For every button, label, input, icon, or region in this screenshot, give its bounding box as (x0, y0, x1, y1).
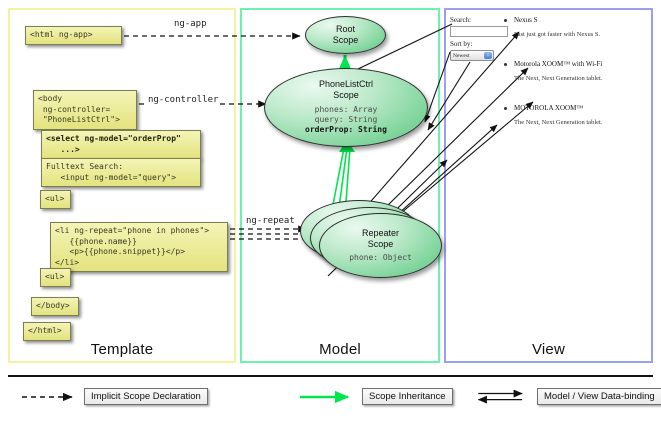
phone-snippet: The Next, Next Generation tablet. (514, 75, 654, 82)
bullet-icon (504, 107, 507, 110)
phone-list-ctrl-scope-props: phones: Array query: String orderProp: S… (305, 105, 387, 136)
green-arrow-icon (298, 390, 356, 404)
legend-implicit-scope-declaration: Implicit Scope Declaration (20, 388, 208, 405)
repeater-scope-title: Repeater Scope (362, 228, 399, 251)
double-arrow-icon (473, 390, 531, 404)
panel-model-label: Model (242, 341, 438, 358)
edge-label-ng-repeat: ng-repeat (244, 216, 297, 226)
code-box-ul-close[interactable]: <ul> (40, 268, 71, 287)
list-item[interactable]: MOTOROLA XOOM™ The Next, Next Generation… (504, 104, 654, 126)
legend-scope-inheritance: Scope Inheritance (298, 388, 453, 405)
prop-orderprop: orderProp: String (305, 125, 387, 134)
code-box-ul-open[interactable]: <ul> (40, 190, 71, 209)
chevron-updown-icon[interactable]: ↕ (484, 52, 492, 59)
code-box-li-ng-repeat[interactable]: <li ng-repeat="phone in phones"> {{phone… (50, 222, 228, 272)
prop-query: query: String (315, 115, 378, 124)
search-input[interactable] (450, 26, 508, 37)
diagram-canvas: Template Model View <html ng-app> <body … (0, 0, 661, 425)
code-box-body-close[interactable]: </body> (31, 297, 79, 316)
repeater-scope[interactable]: Repeater Scope phone: Object (319, 213, 442, 278)
phone-snippet: Fast just got faster with Nexus S. (514, 31, 654, 38)
code-box-body-ng-controller[interactable]: <body ng-controller= "PhoneListCtrl"> (33, 90, 137, 130)
view-content: Search: Sort by: Newest ↕ Nexus S Fast j… (448, 12, 649, 342)
phone-name: Nexus S (514, 16, 654, 24)
repeater-scope-props: phone: Object (349, 253, 412, 263)
edge-label-ng-app: ng-app (172, 19, 209, 29)
phone-list-ctrl-scope-title: PhoneListCtrl Scope (319, 79, 373, 102)
root-scope-title: Root Scope (333, 24, 359, 47)
legend: Implicit Scope Declaration Scope Inherit… (8, 378, 653, 420)
legend-model-view-data-binding: Model / View Data-binding (473, 388, 661, 405)
sort-by-selected-value: Newest (453, 52, 470, 60)
dashed-arrow-icon (20, 390, 78, 404)
legend-implicit-scope-declaration-label: Implicit Scope Declaration (84, 388, 208, 405)
legend-scope-inheritance-label: Scope Inheritance (362, 388, 453, 405)
panel-view-label: View (446, 341, 651, 358)
panel-model: Model (240, 8, 440, 363)
code-box-fulltext-search-input[interactable]: Fulltext Search: <input ng-model="query"… (41, 158, 201, 187)
phone-name: MOTOROLA XOOM™ (514, 104, 654, 112)
phone-snippet: The Next, Next Generation tablet. (514, 119, 654, 126)
legend-divider (8, 375, 653, 377)
bullet-icon (504, 63, 507, 66)
bullet-icon (504, 19, 507, 22)
search-label: Search: (450, 16, 471, 24)
prop-phones: phones: Array (315, 105, 378, 114)
root-scope[interactable]: Root Scope (305, 16, 386, 54)
legend-model-view-data-binding-label: Model / View Data-binding (537, 388, 661, 405)
edge-label-ng-controller: ng-controller (146, 95, 220, 105)
sort-by-label: Sort by: (450, 40, 472, 48)
phone-list-ctrl-scope[interactable]: PhoneListCtrl Scope phones: Array query:… (264, 68, 428, 147)
code-box-select-ng-model[interactable]: <select ng-model="orderProp" ...> (41, 130, 201, 159)
list-item[interactable]: Nexus S Fast just got faster with Nexus … (504, 16, 654, 38)
sort-by-select[interactable]: Newest ↕ (450, 50, 494, 61)
code-box-html-close[interactable]: </html> (23, 322, 71, 341)
phone-name: Motorola XOOM™ with Wi-Fi (514, 60, 654, 68)
panel-template-label: Template (10, 341, 234, 358)
code-box-html-ng-app[interactable]: <html ng-app> (25, 26, 122, 45)
list-item[interactable]: Motorola XOOM™ with Wi-Fi The Next, Next… (504, 60, 654, 82)
